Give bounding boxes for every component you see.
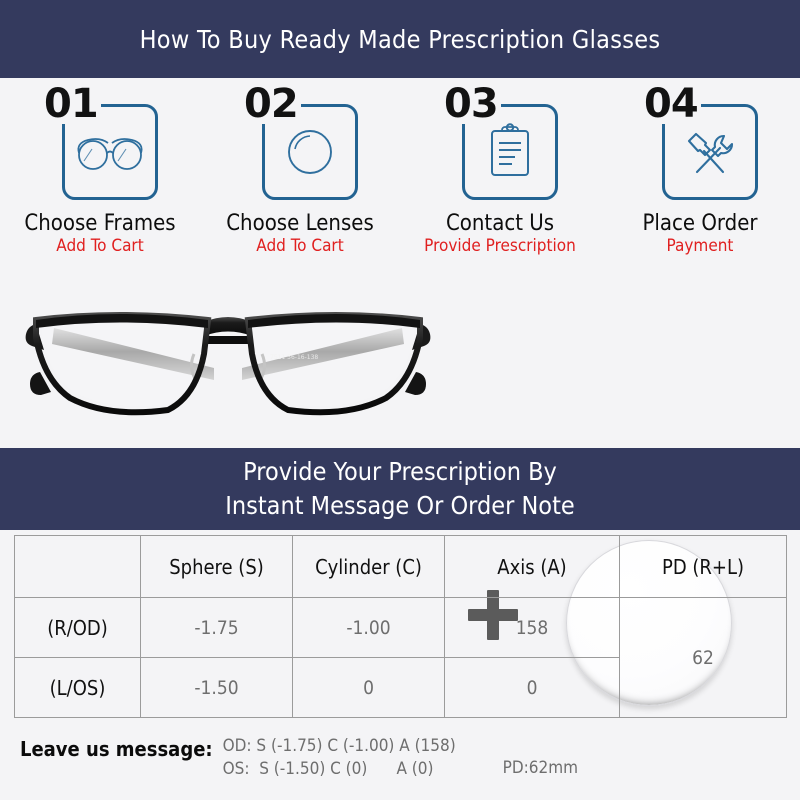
step-graphic: 03 — [434, 86, 566, 204]
row-label-left-eye: (L/OS) — [15, 658, 141, 718]
step-graphic: 01 — [34, 86, 166, 204]
prescription-banner-line1: Provide Your Prescription By — [243, 455, 557, 489]
step-title: Place Order — [642, 212, 757, 235]
leave-message-pd: PD:62mm — [503, 758, 578, 778]
table-header-row: Sphere (S) Cylinder (C) Axis (A) PD (R+L… — [15, 536, 787, 598]
leave-message-section: Leave us message: OD: S (-1.75) C (-1.00… — [20, 735, 780, 781]
prescription-banner-line2: Instant Message Or Order Note — [225, 489, 574, 523]
row-label-right-eye: (R/OD) — [15, 598, 141, 658]
col-header-cylinder: Cylinder (C) — [293, 536, 445, 598]
step-item-4: 04 Place Order Payment — [600, 78, 800, 268]
col-header-blank — [15, 536, 141, 598]
col-header-sphere: Sphere (S) — [141, 536, 293, 598]
cell-left-axis: 0 — [445, 658, 620, 718]
eyeglass-frame-photo: 7511 56-16-138 — [18, 276, 438, 436]
cell-right-cylinder: -1.00 — [293, 598, 445, 658]
cell-left-cylinder: 0 — [293, 658, 445, 718]
step-graphic: 02 — [234, 86, 366, 204]
step-number: 03 — [442, 84, 501, 124]
step-subtitle: Add To Cart — [256, 238, 343, 256]
leave-message-od: OD: S (-1.75) C (-1.00) A (158) — [223, 735, 456, 758]
step-subtitle: Payment — [667, 238, 734, 256]
svg-text:7511 56-16-138: 7511 56-16-138 — [270, 354, 318, 361]
step-item-3: 03 Contact Us Provide Prescription — [400, 78, 600, 268]
table-row: (R/OD) -1.75 -1.00 158 62 — [15, 598, 787, 658]
leave-message-label: Leave us message: — [20, 735, 213, 761]
infographic-page: How To Buy Ready Made Prescription Glass… — [0, 0, 800, 800]
prescription-table: Sphere (S) Cylinder (C) Axis (A) PD (R+L… — [14, 535, 787, 718]
header-banner: How To Buy Ready Made Prescription Glass… — [0, 0, 800, 78]
step-subtitle: Add To Cart — [56, 238, 143, 256]
step-graphic: 04 — [634, 86, 766, 204]
step-number: 02 — [242, 84, 301, 124]
prescription-banner: Provide Your Prescription By Instant Mes… — [0, 448, 800, 530]
leave-message-lines: OD: S (-1.75) C (-1.00) A (158) OS: S (-… — [223, 735, 456, 781]
cell-right-axis: 158 — [445, 598, 620, 658]
cell-right-sphere: -1.75 — [141, 598, 293, 658]
page-title: How To Buy Ready Made Prescription Glass… — [140, 25, 661, 54]
product-row: 7511 56-16-138 — [0, 268, 800, 448]
cell-pd-value: 62 — [620, 598, 787, 718]
step-subtitle: Provide Prescription — [424, 238, 576, 256]
step-title: Choose Frames — [24, 212, 175, 235]
step-number: 01 — [42, 84, 101, 124]
step-number: 04 — [642, 84, 701, 124]
col-header-axis: Axis (A) — [445, 536, 620, 598]
steps-row: 01 Choose Frames Add To Cart 02 Choos — [0, 78, 800, 268]
leave-message-os: OS: S (-1.50) C (0) A (0) — [223, 758, 456, 781]
step-title: Choose Lenses — [226, 212, 374, 235]
cell-left-sphere: -1.50 — [141, 658, 293, 718]
step-title: Contact Us — [446, 212, 554, 235]
step-item-2: 02 Choose Lenses Add To Cart — [200, 78, 400, 268]
col-header-pd: PD (R+L) — [620, 536, 787, 598]
step-item-1: 01 Choose Frames Add To Cart — [0, 78, 200, 268]
